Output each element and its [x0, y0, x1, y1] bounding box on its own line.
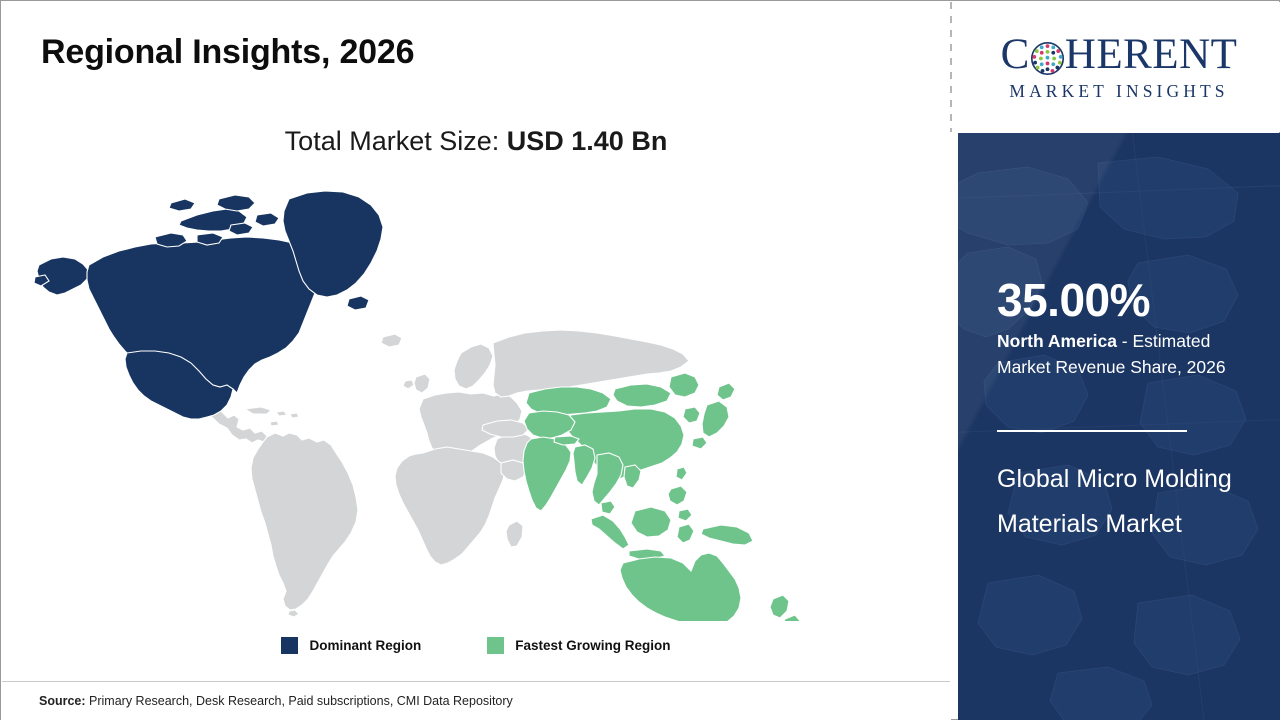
logo-wordmark: C — [1001, 33, 1238, 76]
panel-content: 35.00% North America - Estimated Market … — [997, 133, 1259, 720]
logo-word-rest: HERENT — [1065, 33, 1238, 76]
page-title: Regional Insights, 2026 — [41, 33, 414, 72]
stat-region-name: North America — [997, 331, 1117, 351]
report-title: Global Micro Molding Materials Market — [997, 457, 1247, 546]
map-region-north-america — [34, 191, 383, 419]
map-region-asia-pacific — [523, 373, 801, 621]
vertical-dashed-divider — [950, 2, 952, 132]
logo-letter-c: C — [1001, 33, 1030, 76]
brand-logo: C — [958, 2, 1280, 132]
left-content-panel: Regional Insights, 2026 Total Market Siz… — [1, 1, 951, 721]
legend-label-dominant: Dominant Region — [309, 638, 421, 653]
source-note: Source: Primary Research, Desk Research,… — [39, 694, 513, 708]
highlight-panel: 35.00% North America - Estimated Market … — [958, 133, 1280, 720]
logo-subtitle: MARKET INSIGHTS — [1009, 81, 1228, 102]
slide-frame: Regional Insights, 2026 Total Market Siz… — [0, 0, 1280, 720]
stat-value: 35.00% — [997, 277, 1150, 323]
stat-description: North America - Estimated Market Revenue… — [997, 329, 1259, 380]
map-legend: Dominant Region Fastest Growing Region — [1, 637, 951, 654]
legend-swatch-dominant — [281, 637, 298, 654]
legend-item-fastest: Fastest Growing Region — [487, 637, 670, 654]
legend-label-fastest: Fastest Growing Region — [515, 638, 670, 653]
world-map-svg — [31, 181, 831, 621]
total-market-size: Total Market Size: USD 1.40 Bn — [1, 126, 951, 157]
legend-item-dominant: Dominant Region — [281, 637, 421, 654]
source-divider — [2, 681, 950, 682]
globe-icon — [1031, 40, 1064, 73]
legend-swatch-fastest — [487, 637, 504, 654]
total-market-size-label: Total Market Size: — [285, 126, 500, 156]
source-text: Primary Research, Desk Research, Paid su… — [86, 694, 513, 708]
total-market-size-value: USD 1.40 Bn — [507, 126, 668, 156]
source-label: Source: — [39, 694, 86, 708]
world-map — [31, 181, 831, 621]
panel-divider — [997, 430, 1187, 432]
